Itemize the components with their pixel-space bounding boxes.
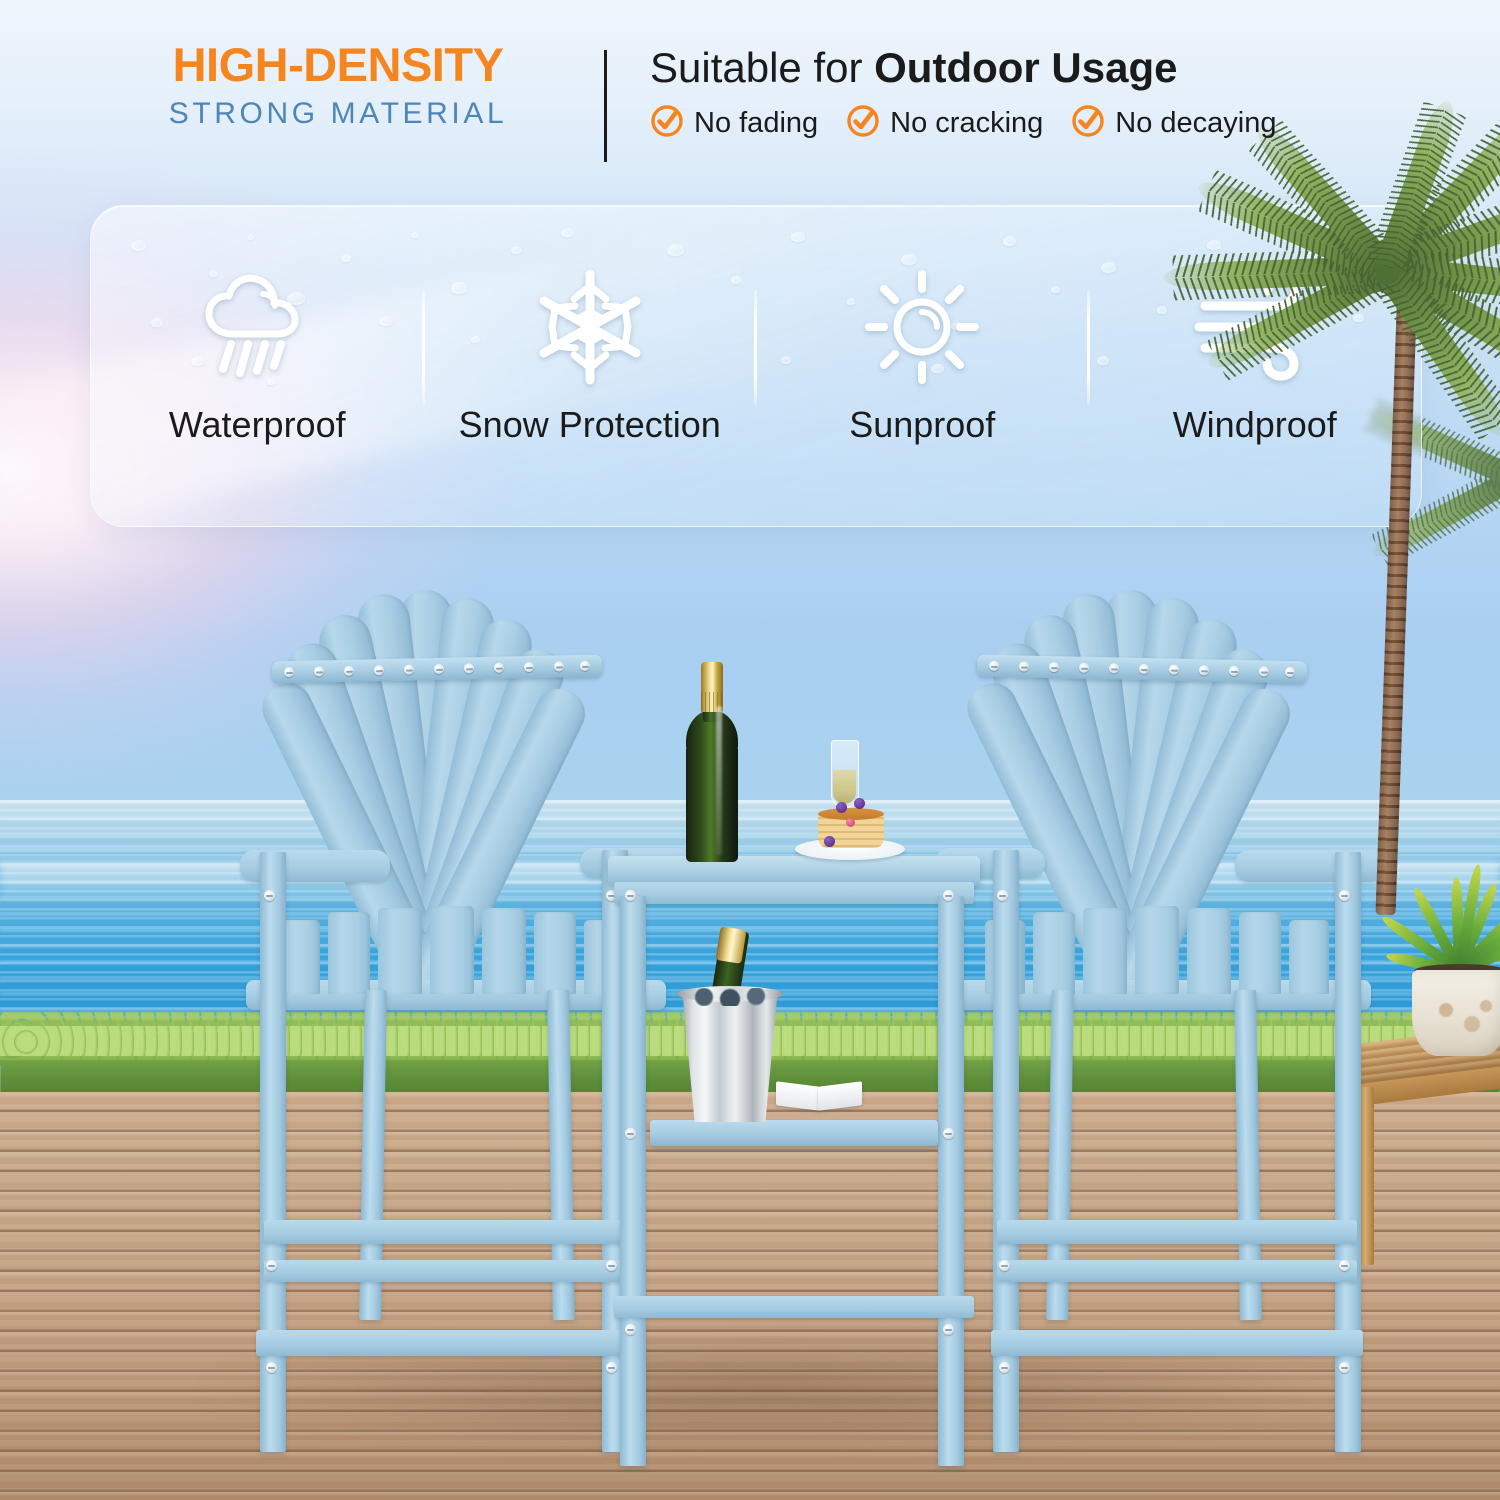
palm-trunk — [1375, 255, 1418, 915]
open-book — [776, 1080, 862, 1110]
bucket-ice — [686, 988, 774, 1006]
product-marketing-image: Waterproof — [0, 0, 1500, 1500]
benefit-label: No fading — [694, 107, 818, 140]
feature-item-waterproof: Waterproof — [91, 206, 424, 526]
footrest-upper — [997, 1220, 1357, 1244]
footrest-upper — [264, 1220, 624, 1244]
check-circle-icon — [846, 104, 880, 143]
benefit-item: No fading — [650, 104, 818, 143]
table-apron — [614, 882, 974, 904]
header-banner: HIGH-DENSITY STRONG MATERIAL Suitable fo… — [0, 0, 1500, 180]
adirondack-chair-left — [250, 560, 670, 1460]
sun-icon — [863, 268, 981, 386]
feature-item-snow-protection: Snow Protection — [424, 206, 757, 526]
snowflake-icon — [530, 268, 650, 386]
headline-emphasis: Outdoor Usage — [874, 44, 1177, 91]
bottle-body — [686, 744, 738, 862]
blueberry-garnish — [836, 802, 847, 813]
raspberry-garnish — [846, 818, 855, 827]
benefit-label: No decaying — [1115, 107, 1276, 140]
footrest-lower — [997, 1260, 1357, 1282]
table-leg-left — [620, 896, 646, 1466]
blueberry-garnish — [854, 798, 865, 809]
badge-subtitle: STRONG MATERIAL — [118, 97, 558, 131]
headline-prefix: Suitable for — [650, 44, 874, 91]
palm-tree — [1185, 60, 1500, 920]
check-circle-icon — [650, 104, 684, 143]
feature-label: Waterproof — [169, 404, 346, 446]
check-circle-icon — [1071, 104, 1105, 143]
feature-divider — [754, 290, 757, 405]
benefit-item: No decaying — [1071, 104, 1276, 143]
headline: Suitable for Outdoor Usage — [650, 44, 1277, 92]
table-stretcher — [614, 1296, 974, 1318]
badge-title: HIGH-DENSITY — [118, 40, 558, 89]
stretcher-bar — [991, 1330, 1363, 1356]
book-page-right — [818, 1081, 862, 1110]
book-page-left — [776, 1081, 820, 1110]
champagne-bottle — [686, 662, 738, 862]
benefit-item: No cracking — [846, 104, 1043, 143]
ceramic-pot — [1412, 970, 1500, 1056]
table-lower-shelf — [650, 1120, 938, 1146]
flute-contents — [833, 770, 856, 804]
ice-bucket — [678, 978, 782, 1123]
table-leg-right — [938, 896, 964, 1466]
benefit-label: No cracking — [890, 107, 1043, 140]
bucket-body — [678, 990, 782, 1122]
feature-divider — [1087, 290, 1090, 405]
front-leg-right — [1335, 852, 1361, 1452]
benefit-list: No fading No cracking — [650, 104, 1277, 143]
footrest-lower — [264, 1260, 624, 1282]
feature-divider — [422, 290, 425, 405]
bucket-bottle-foil — [716, 926, 747, 964]
header-right-block: Suitable for Outdoor Usage No fading — [650, 44, 1277, 143]
feature-label: Sunproof — [849, 404, 995, 446]
header-divider — [604, 50, 607, 162]
material-badge: HIGH-DENSITY STRONG MATERIAL — [118, 40, 558, 131]
bottle-highlight — [716, 706, 722, 856]
stretcher-bar — [256, 1330, 628, 1356]
feature-item-sunproof: Sunproof — [756, 206, 1089, 526]
feature-label: Snow Protection — [459, 404, 721, 446]
rain-cloud-icon — [197, 268, 317, 386]
blueberry-garnish — [824, 836, 835, 847]
